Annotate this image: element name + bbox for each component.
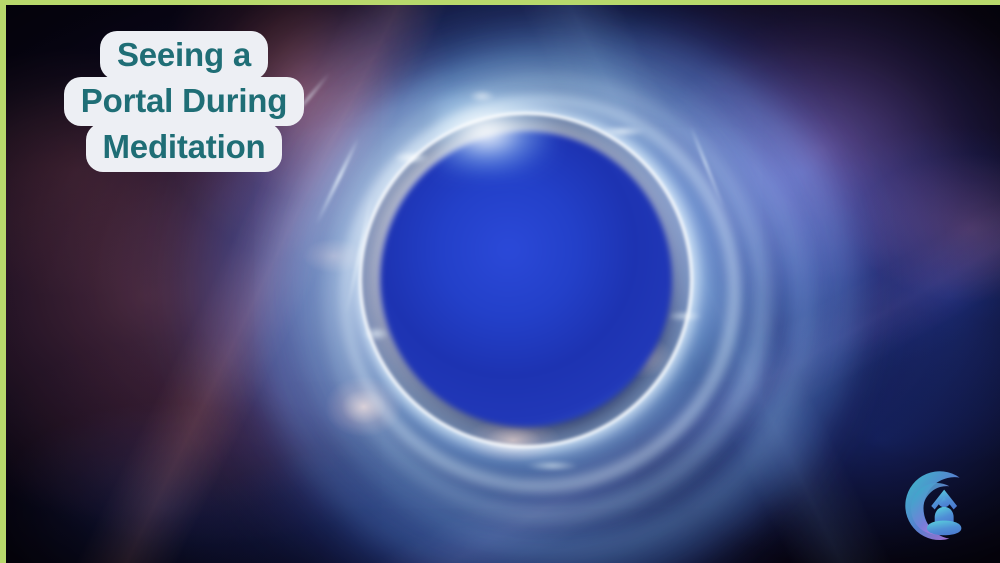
portal-vortex — [316, 71, 736, 491]
energy-filament-icon — [346, 196, 373, 314]
title-plaque: Seeing a Portal During Meditation — [48, 31, 320, 172]
portal-swirl-arm — [228, 0, 865, 563]
portal-sparkles — [306, 61, 746, 501]
portal-ring-hotspot — [356, 109, 696, 451]
energy-filament-icon — [690, 126, 725, 208]
title-line-2: Portal During — [64, 77, 304, 126]
portal-swirl-arm — [268, 22, 812, 563]
meditation-lotus-logo — [896, 463, 982, 549]
title-line-1: Seeing a — [100, 31, 268, 80]
title-line-3: Meditation — [86, 123, 283, 172]
banner-image: Seeing a Portal During Meditation — [0, 0, 1000, 563]
light-flare-icon — [436, 93, 556, 179]
portal-light-ring — [362, 115, 690, 445]
portal-core — [380, 131, 672, 427]
logo-figure-legs-icon — [927, 521, 961, 536]
energy-filament-icon — [315, 137, 360, 225]
